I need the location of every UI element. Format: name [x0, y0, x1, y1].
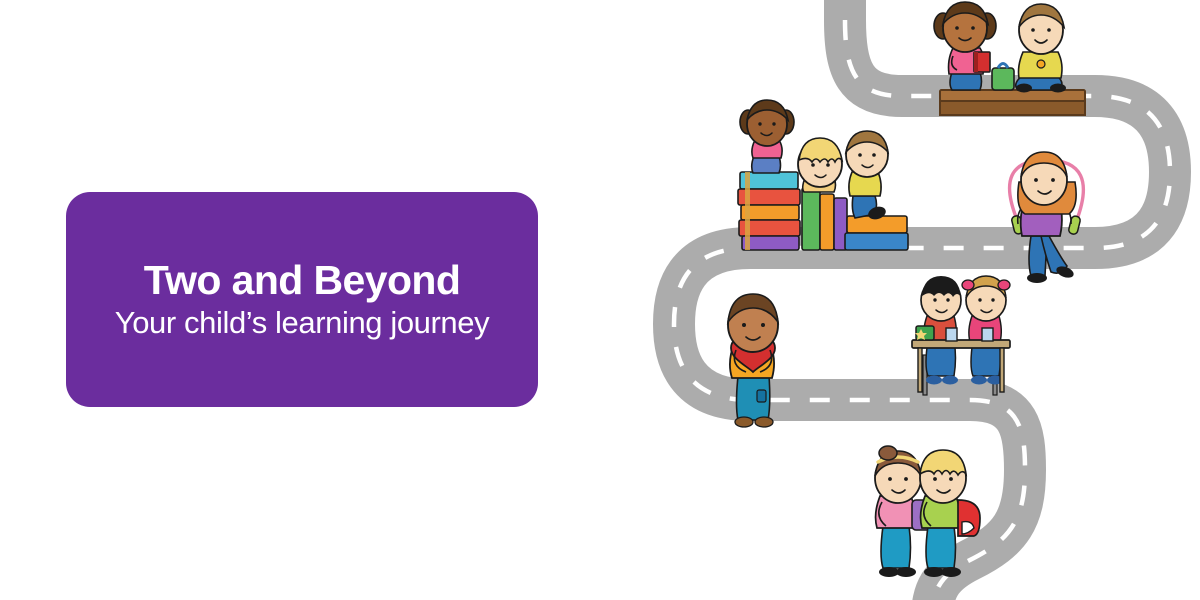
book-stack-left [738, 172, 800, 250]
book-stack-middle [802, 188, 847, 250]
banner-root: Two and Beyond Your child’s learning jou… [0, 0, 1200, 600]
book-stack-right [845, 216, 908, 250]
title-card: Two and Beyond Your child’s learning jou… [66, 192, 538, 407]
child-boy-on-books [846, 131, 888, 221]
learning-journey-illustration [640, 0, 1200, 600]
child-boy-sitting [992, 4, 1066, 93]
page-subtitle: Your child’s learning journey [115, 306, 489, 340]
page-title: Two and Beyond [144, 259, 461, 302]
scene-bench-readers [934, 2, 1085, 115]
milk-carton-icon [946, 328, 957, 341]
scene-lunch-table [912, 276, 1010, 395]
child-blonde [798, 138, 842, 192]
scene-book-stack-group [738, 100, 908, 250]
hair-bow-icon [998, 280, 1010, 290]
hair-bow-icon [962, 280, 974, 290]
child-girl-on-books [740, 100, 794, 173]
milk-carton-icon [982, 328, 993, 341]
